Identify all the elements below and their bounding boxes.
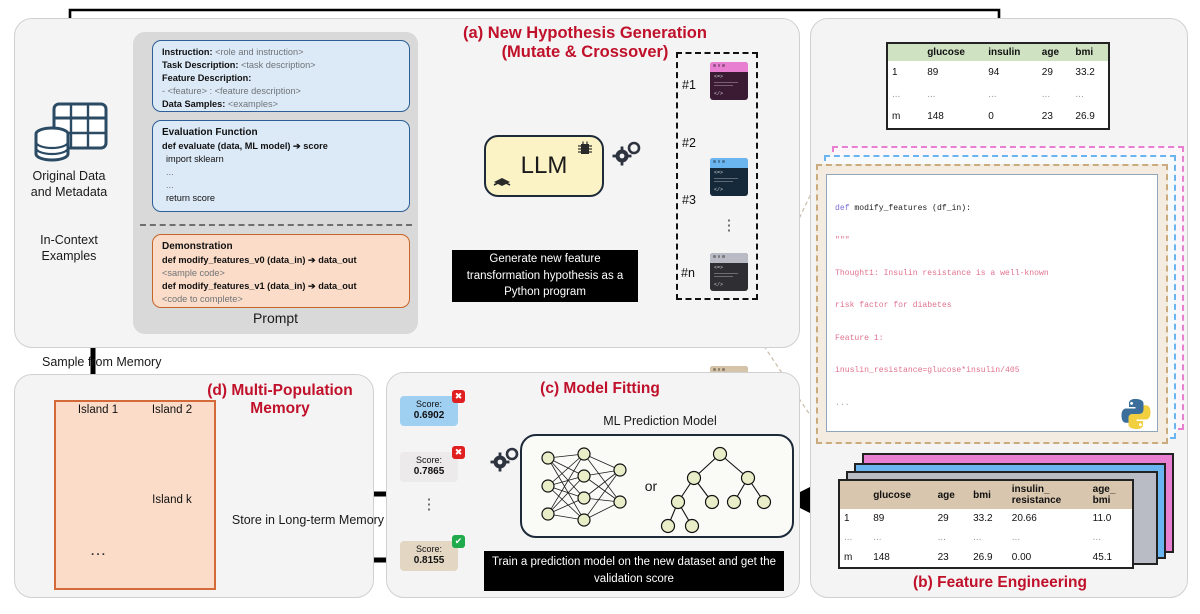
demonstration-title: Demonstration	[162, 241, 233, 252]
original-data-table-grid: glucose insulin age bmi 189942933.2 ....…	[888, 44, 1108, 128]
code-line-2: Thought1: Insulin resistance is a well-k…	[835, 269, 1149, 280]
prompt-divider	[140, 224, 412, 226]
evaluation-signature: def evaluate (data, ML model) ➔ score	[162, 141, 328, 151]
table-row: m1482326.90.0045.1	[840, 548, 1132, 567]
code-line-6: ...	[835, 399, 1149, 410]
feature-desc-key: Feature Description:	[162, 73, 251, 83]
table-header-row: glucose insulin age bmi	[888, 44, 1108, 61]
candidate-score-value-2: 0.8155	[414, 555, 445, 566]
original-data-label-line1: Original Data	[4, 168, 134, 184]
table-row: m14802326.9	[888, 106, 1108, 128]
task-desc-val: <task description>	[238, 60, 315, 70]
table-header-row: glucose age bmi insulin_ resistance age_…	[840, 481, 1132, 509]
candidate-score-1: Score: 0.7865	[400, 452, 458, 482]
brain-chip-icon	[576, 140, 594, 158]
evaluation-line-1: ...	[162, 166, 400, 179]
candidate-score-value-0: 0.6902	[414, 410, 445, 421]
candidate-score-0: Score: 0.6902	[400, 396, 458, 426]
original-data-table: glucose insulin age bmi 189942933.2 ....…	[886, 42, 1110, 130]
island-label-1: Island 2	[138, 404, 206, 416]
hypothesis-index-3: #n	[681, 266, 695, 280]
demo-line-0: def modify_features_v0 (data_in) ➔ data_…	[162, 255, 357, 265]
table-row: ..................	[840, 528, 1132, 547]
llm-label: LLM	[521, 152, 568, 180]
island-label-2: Island k	[138, 494, 206, 506]
candidate-score-label-1: Score:	[416, 455, 442, 465]
gear-icon	[612, 140, 642, 166]
gear-icon-model-fitting	[490, 446, 520, 472]
demo-line-3: <code to complete>	[162, 293, 400, 306]
hypothesis-index-1: #2	[682, 136, 696, 150]
code-line-5: inuslin_resistance=glucose*insulin/405	[835, 366, 1149, 377]
evaluation-line-3: return score	[162, 192, 400, 205]
section-d-title-line2: Memory	[190, 400, 370, 418]
hypothesis-index-2: #3	[682, 193, 696, 207]
ml-model-title: ML Prediction Model	[530, 414, 790, 428]
hypothesis-card-1[interactable]: <=> </>	[710, 158, 748, 196]
table-row: ...............	[888, 83, 1108, 105]
prompt-label: Prompt	[133, 310, 418, 326]
demonstration-lines: Demonstration def modify_features_v0 (da…	[162, 240, 400, 306]
python-logo-icon	[1118, 396, 1154, 432]
engineered-data-table: glucose age bmi insulin_ resistance age_…	[838, 479, 1134, 569]
original-data-icon	[28, 96, 110, 166]
figure-root: (a) New Hypothesis Generation (Mutate & …	[0, 0, 1200, 614]
table-row: 1892933.220.6611.0	[840, 509, 1132, 528]
candidate-status-ok-2: ✔	[452, 535, 465, 548]
hypothesis-index-0: #1	[682, 78, 696, 92]
instruction-lines: Instruction: <role and instruction> Task…	[162, 46, 400, 111]
code-line-7: ...	[835, 431, 1149, 432]
in-context-label-line2: Examples	[4, 248, 134, 264]
hypothesis-card-2[interactable]: <=> </>	[710, 253, 748, 291]
data-samples-key: Data Samples:	[162, 99, 225, 109]
train-model-callout: Train a prediction model on the new data…	[484, 551, 784, 591]
instruction-box: Instruction: <role and instruction> Task…	[152, 40, 410, 112]
section-b-title: (b) Feature Engineering	[860, 574, 1140, 592]
island-label-0: Island 1	[64, 404, 132, 416]
section-d-title-line1: (d) Multi-Population	[190, 382, 370, 400]
generated-code-block: def modify_features (df_in): """ Thought…	[826, 174, 1158, 432]
in-context-label-line1: In-Context	[4, 232, 134, 248]
code-line-4: Feature 1:	[835, 334, 1149, 345]
task-desc-key: Task Description:	[162, 60, 238, 70]
store-memory-label: Store in Long-term Memory	[228, 512, 388, 529]
candidate-score-value-1: 0.7865	[414, 466, 445, 477]
section-c-title: (c) Model Fitting	[510, 380, 690, 398]
candidate-ellipsis: ⋮	[412, 500, 446, 511]
model-or-label: or	[636, 478, 666, 494]
in-context-examples-label: In-Context Examples	[4, 232, 134, 265]
evaluation-line-0: import sklearn	[162, 153, 400, 166]
islands-more-ellipsis: …	[64, 540, 132, 560]
code-line-1: """	[835, 236, 1149, 247]
evaluation-title: Evaluation Function	[162, 127, 258, 138]
feature-desc-val: - <feature> : <feature description>	[162, 86, 301, 96]
hypothesis-card-0[interactable]: <=> </>	[710, 62, 748, 100]
candidate-score-label-2: Score:	[416, 544, 442, 554]
code-line-3: risk factor for diabetes	[835, 301, 1149, 312]
generate-hypothesis-callout: Generate new feature transformation hypo…	[452, 250, 638, 302]
evaluation-function-box: Evaluation Function def evaluate (data, …	[152, 120, 410, 212]
code-line-0: def modify_features (df_in):	[835, 204, 1149, 215]
section-a-title-line1: (a) New Hypothesis Generation	[420, 24, 750, 43]
evaluation-line-2: ...	[162, 179, 400, 192]
books-icon	[492, 172, 512, 190]
demonstration-box: Demonstration def modify_features_v0 (da…	[152, 234, 410, 308]
candidate-status-bad-1: ✖	[452, 446, 465, 459]
demo-line-1: <sample code>	[162, 267, 400, 280]
hypothesis-ellipsis: ⋮	[712, 221, 746, 232]
section-d-title: (d) Multi-Population Memory	[190, 382, 370, 418]
candidate-score-label-0: Score:	[416, 399, 442, 409]
instruction-key: Instruction:	[162, 47, 213, 57]
data-samples-val: <examples>	[225, 99, 278, 109]
engineered-data-table-grid: glucose age bmi insulin_ resistance age_…	[840, 481, 1132, 567]
candidate-status-bad-0: ✖	[452, 390, 465, 403]
original-data-label-line2: and Metadata	[4, 184, 134, 200]
candidate-score-2: Score: 0.8155	[400, 541, 458, 571]
demo-line-2: def modify_features_v1 (data_in) ➔ data_…	[162, 281, 357, 291]
sample-from-memory-label: Sample from Memory	[42, 355, 161, 369]
instruction-val: <role and instruction>	[213, 47, 304, 57]
table-row: 189942933.2	[888, 61, 1108, 83]
store-memory-text: Store in Long-term Memory	[232, 513, 384, 527]
evaluation-lines: Evaluation Function def evaluate (data, …	[162, 126, 400, 206]
original-data-label: Original Data and Metadata	[4, 168, 134, 201]
